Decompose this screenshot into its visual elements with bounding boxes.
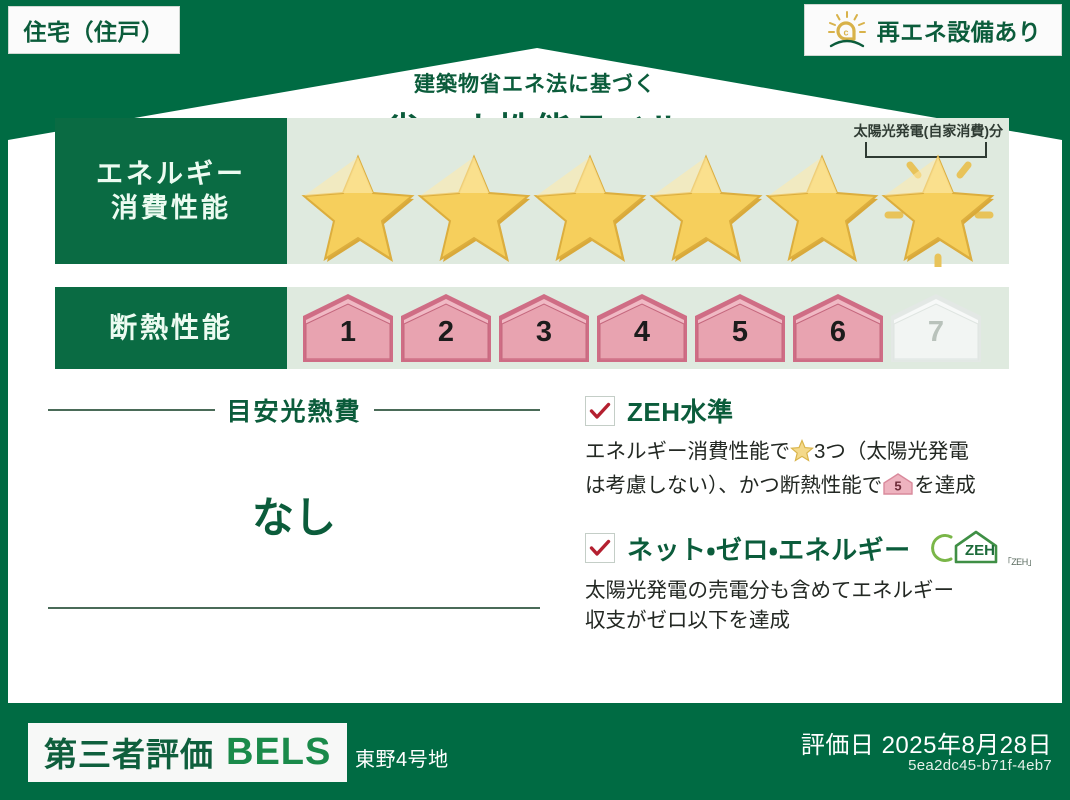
criterion-net-zero-energy: ネット・ゼロ・エネルギー ZEH 「ZEH」 太陽光発電の売電分も含めてエネルギ… [585,528,1035,635]
energy-performance-row: エネルギー 消費性能 太陽光発電(自家消費)分 [55,118,1009,264]
renewable-energy-badge: c 再エネ設備あり [804,4,1062,56]
bels-en-label: BELS [226,731,331,774]
star-icon [648,149,764,257]
bels-certification-badge: 第三者評価 BELS [28,723,347,782]
house-grade-icon: 6 [790,290,886,366]
utility-cost-label: 目安光熱費 [227,392,362,428]
zeh-logo-caption: 「ZEH」 [1003,555,1037,568]
insulation-performance-row: 断熱性能 1 2 3 [55,287,1009,369]
house-grade-number: 3 [496,316,592,349]
house-grade-number: 1 [300,316,396,349]
star-rating [287,144,1009,262]
criterion-description: エネルギー消費性能で3つ（太陽光発電 は考慮しない）、かつ断熱性能で5を達成 [585,437,1035,504]
utility-cost-block: 目安光熱費 なし [48,392,540,609]
star-icon [880,149,996,257]
house-grade-number: 7 [888,316,984,349]
house-grade-icon: 7 [888,290,984,366]
star-icon [416,149,532,257]
criterion-header: ZEH水準 [585,392,1035,429]
insulation-performance-label: 断熱性能 [55,287,287,369]
utility-cost-value: なし [48,484,540,545]
house-grade-icon: 3 [496,290,592,366]
criterion-description: 太陽光発電の売電分も含めてエネルギー 収支がゼロ以下を達成 [585,576,1035,635]
insulation-grade-scale: 1 2 3 4 [300,290,984,366]
footer-bar: 第三者評価 BELS 東野4号地 評価日 2025年8月28日 5ea2dc45… [0,703,1070,800]
utility-cost-heading: 目安光熱費 [48,392,540,428]
check-icon [589,402,611,420]
star-icon [300,149,416,257]
net-zero-energy-checkbox[interactable] [585,533,615,563]
house-grade-icon: 2 [398,290,494,366]
criterion-zeh-standard: ZEH水準 エネルギー消費性能で3つ（太陽光発電 は考慮しない）、かつ断熱性能で… [585,392,1035,504]
title-subtitle: 建築物省エネ法に基づく [8,68,1062,98]
house-grade-icon: 1 [300,290,396,366]
divider-right [374,409,541,411]
star-icon [532,149,648,257]
divider-left [48,409,215,411]
star-icon [764,149,880,257]
criteria-list: ZEH水準 エネルギー消費性能で3つ（太陽光発電 は考慮しない）、かつ断熱性能で… [585,392,1035,660]
solar-self-consumption-caption: 太陽光発電(自家消費)分 [854,121,1003,141]
energy-performance-label: エネルギー 消費性能 [55,118,287,264]
building-type-label: 住宅（住戸） [24,13,165,47]
bels-jp-label: 第三者評価 [44,728,214,776]
evaluation-date: 評価日 2025年8月28日 [801,725,1052,760]
zeh-house-logo: ZEH 「ZEH」 [929,528,1037,568]
criterion-title: ZEH水準 [627,392,734,429]
building-type-badge: 住宅（住戸） [8,6,180,54]
criterion-header: ネット・ゼロ・エネルギー ZEH 「ZEH」 [585,528,1035,568]
site-name: 東野4号地 [355,743,449,772]
house-grade-icon: 4 [594,290,690,366]
inline-grade-house-icon: 5 [882,472,914,505]
house-grade-number: 5 [692,316,788,349]
inline-star-icon [790,439,814,471]
utility-cost-bottom-rule [48,607,540,609]
renewable-energy-label: 再エネ設備あり [877,13,1042,47]
energy-performance-stars-panel: 太陽光発電(自家消費)分 [287,118,1009,264]
svg-text:5: 5 [895,478,902,493]
svg-text:c: c [843,28,848,38]
house-grade-number: 6 [790,316,886,349]
criterion-title: ネット・ゼロ・エネルギー [627,530,911,567]
house-grade-number: 2 [398,316,494,349]
house-grade-number: 4 [594,316,690,349]
house-grade-icon: 5 [692,290,788,366]
check-icon [589,539,611,557]
sun-renewable-icon: c [825,10,869,50]
insulation-grade-panel: 1 2 3 4 [287,287,1009,369]
evaluation-id: 5ea2dc45-b71f-4eb7 [908,757,1052,774]
svg-text:ZEH: ZEH [965,542,995,559]
zeh-standard-checkbox[interactable] [585,396,615,426]
